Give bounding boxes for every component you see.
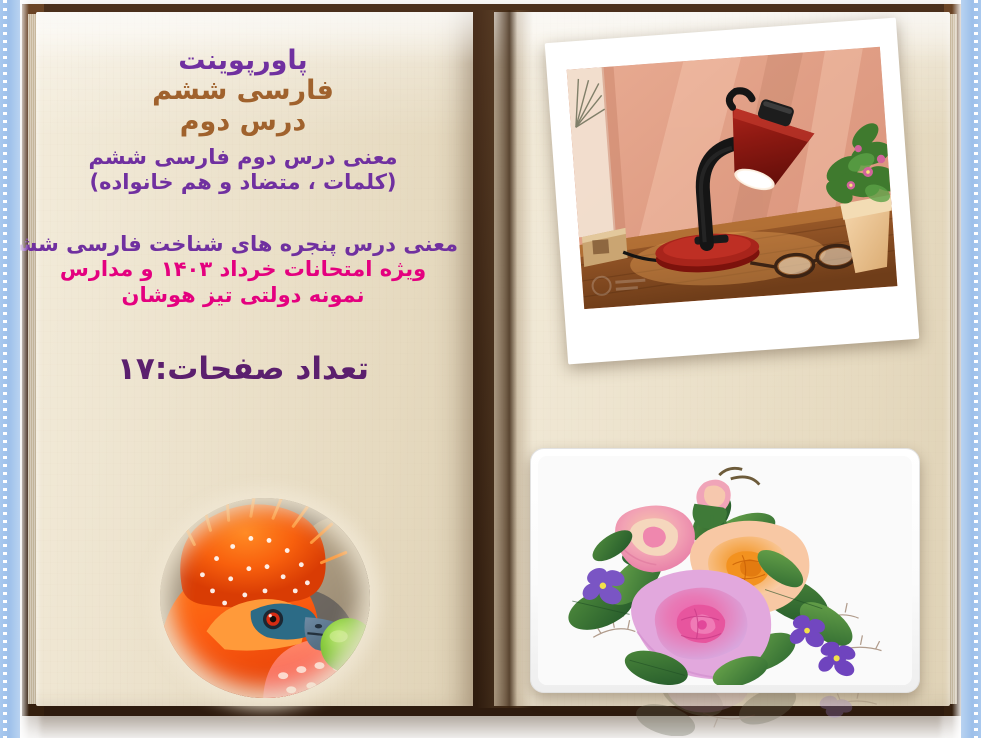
left-page-text-block: پاورپوینت فارسی ششم درس دوم معنی درس دوم…: [28, 46, 458, 387]
right-decorative-border: [961, 0, 981, 738]
slide-canvas: پاورپوینت فارسی ششم درس دوم معنی درس دوم…: [0, 0, 981, 738]
book-gutter-shadow: [477, 10, 533, 708]
flowers-photo-frame: [530, 448, 920, 693]
page-count-label: تعداد صفحات:۱۷: [28, 351, 458, 387]
rose-bouquet-illustration: [538, 456, 912, 685]
desk-lamp-illustration: [567, 47, 898, 309]
bird-vignette: [160, 498, 370, 698]
right-border-fade: [952, 0, 961, 738]
title-line-subject: فارسی ششم: [28, 76, 458, 106]
right-border-dots: [974, 0, 978, 738]
title-line-powerpoint: پاورپوینت: [28, 46, 458, 76]
title-line-words: (کلمات ، متضاد و هم خانواده): [28, 171, 458, 195]
subtitle-block: معنی درس پنجره های شناخت فارسی ششم ویژه …: [28, 233, 458, 308]
left-border-dots: [3, 0, 7, 738]
title-line-meaning: معنی درس دوم فارسی ششم: [28, 146, 458, 170]
left-decorative-border: [0, 0, 20, 738]
lamp-photo: [567, 47, 898, 309]
bird-image: [160, 498, 370, 698]
left-border-fade: [20, 0, 29, 738]
subtitle-line-exams: ویژه امتحانات خرداد ۱۴۰۳ و مدارس: [28, 258, 458, 282]
title-line-lesson: درس دوم: [28, 107, 458, 137]
lamp-photo-frame: [545, 18, 920, 365]
subtitle-line-windows: معنی درس پنجره های شناخت فارسی ششم: [28, 233, 458, 257]
flowers-photo: [538, 456, 912, 685]
flowers-bleed-through: [560, 690, 900, 736]
subtitle-line-schools: نمونه دولتی تیز هوشان: [28, 284, 458, 308]
flowers-bleed-illustration: [560, 690, 900, 736]
